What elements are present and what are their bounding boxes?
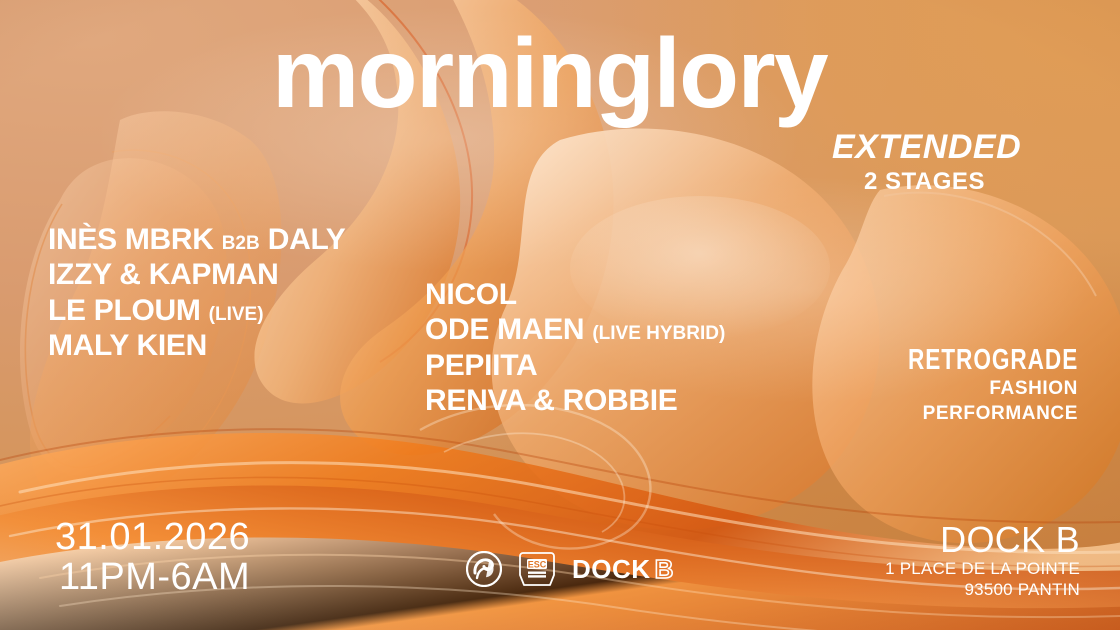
artist-name: LE PLOUM (48, 294, 201, 327)
venue-block: DOCK B 1 PLACE DE LA POINTE 93500 PANTIN (885, 522, 1080, 601)
poster-subtitle-stages: 2 STAGES (832, 170, 1017, 194)
swirl-logo-icon (466, 551, 502, 587)
svg-text:ESC: ESC (528, 559, 547, 569)
artist-name: NICOL (425, 278, 517, 311)
artist-name: PEPIITA (425, 349, 537, 382)
lineup-item: MALY KIEN (48, 328, 345, 363)
venue-address: 1 PLACE DE LA POINTE (885, 558, 1080, 579)
lineup-stage-one: INÈS MBRK B2B DALY IZZY & KAPMAN LE PLOU… (48, 222, 345, 364)
dock-b-logo-b: B (655, 556, 674, 582)
artist-tag: B2B (222, 233, 260, 254)
artist-name-secondary: DALY (268, 223, 346, 256)
event-date: 31.01.2026 (55, 518, 250, 558)
lineup-stage-two: NICOL ODE MAEN (LIVE HYBRID) PEPIITA REN… (425, 277, 725, 419)
schedule-block: 31.01.2026 11PM-6AM (55, 518, 250, 598)
artist-tag: (LIVE HYBRID) (592, 323, 725, 344)
dock-b-logo-dock: DOCK (572, 556, 651, 582)
lineup-item: ODE MAEN (LIVE HYBRID) (425, 312, 725, 347)
lineup-item: PEPIITA (425, 348, 725, 383)
retrograde-line: PERFORMANCE (860, 401, 1078, 426)
lineup-item: RENVA & ROBBIE (425, 383, 725, 418)
retrograde-title: RETROGRADE (908, 345, 1078, 376)
poster-subtitle-extended: EXTENDED (832, 130, 1021, 164)
artist-name: ODE MAEN (425, 313, 584, 346)
artist-tag: (LIVE) (209, 304, 264, 325)
artist-name: IZZY & KAPMAN (48, 258, 279, 291)
lineup-item: LE PLOUM (LIVE) (48, 293, 345, 328)
dock-b-logo: DOCK B (572, 556, 674, 582)
logo-row: ESC DOCK B (466, 549, 674, 589)
artist-name: INÈS MBRK (48, 223, 214, 256)
lineup-item: IZZY & KAPMAN (48, 257, 345, 292)
lineup-item: INÈS MBRK B2B DALY (48, 222, 345, 257)
esc-logo-icon: ESC (516, 549, 558, 589)
venue-name: DOCK B (885, 522, 1080, 558)
event-time: 11PM-6AM (55, 558, 250, 598)
poster-title: morninglory (272, 28, 827, 118)
poster-title-block: morninglory EXTENDED 2 STAGES (272, 28, 827, 118)
artist-name: RENVA & ROBBIE (425, 384, 678, 417)
artist-name: MALY KIEN (48, 329, 207, 362)
retrograde-block: RETROGRADE FASHION PERFORMANCE (860, 345, 1078, 426)
retrograde-line: FASHION (860, 376, 1078, 401)
venue-city: 93500 PANTIN (885, 579, 1080, 600)
event-poster: morninglory EXTENDED 2 STAGES INÈS MBRK … (0, 0, 1120, 630)
lineup-item: NICOL (425, 277, 725, 312)
